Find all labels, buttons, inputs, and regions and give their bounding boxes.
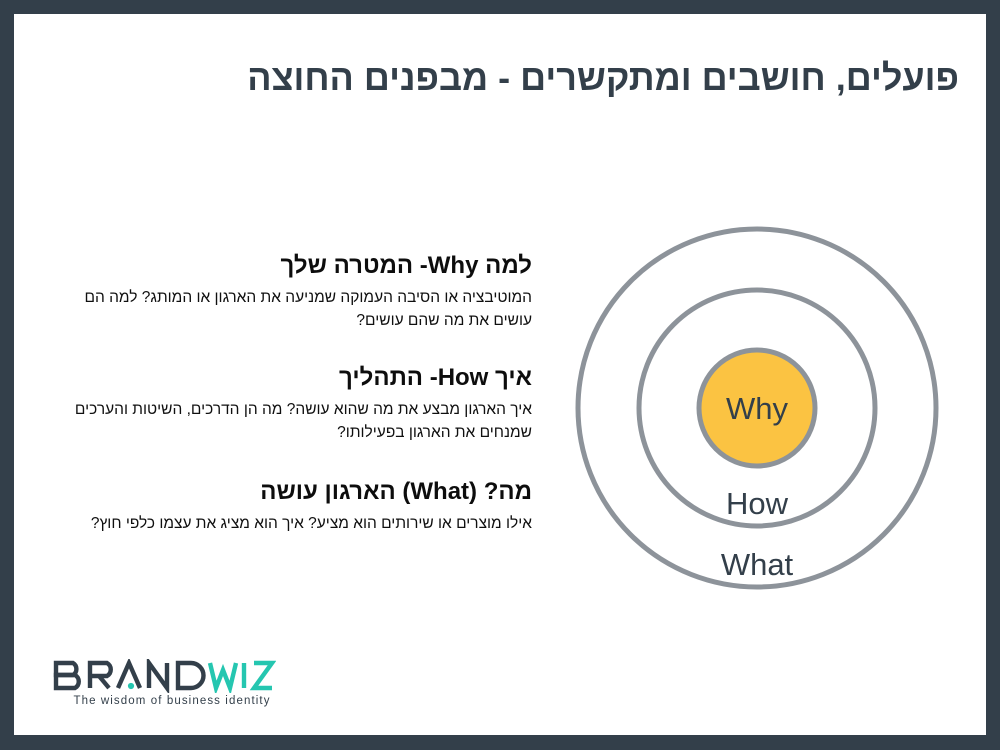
section-what: מה? (What) הארגון עושה אילו מוצרים או שי… [52, 476, 532, 535]
explanation-column: למה Why- המטרה שלך המוטיבציה או הסיבה הע… [52, 250, 532, 535]
section-how-body: איך הארגון מבצע את מה שהוא עושה? מה הן ה… [52, 398, 532, 444]
section-why-heading: למה Why- המטרה שלך [52, 250, 532, 282]
outer-circle-label: What [721, 547, 794, 582]
section-what-heading: מה? (What) הארגון עושה [52, 476, 532, 508]
middle-circle-label: How [726, 486, 789, 521]
brand-logo: The wisdom of business identity [52, 659, 292, 707]
inner-circle-label: Why [726, 391, 789, 426]
slide-canvas: פועלים, חושבים ומתקשרים - מבפנים החוצה ל… [0, 0, 1000, 750]
slide-content-area: פועלים, חושבים ומתקשרים - מבפנים החוצה ל… [14, 14, 986, 735]
section-how: איך How- התהליך איך הארגון מבצע את מה שה… [52, 362, 532, 444]
page-title: פועלים, חושבים ומתקשרים - מבפנים החוצה [59, 56, 959, 100]
logo-tagline: The wisdom of business identity [52, 695, 292, 707]
section-what-body: אילו מוצרים או שירותים הוא מציע? איך הוא… [52, 512, 532, 535]
section-why-body: המוטיבציה או הסיבה העמוקה שמניעה את הארג… [52, 286, 532, 332]
logo-dot-icon [128, 683, 134, 689]
brandwiz-wordmark-icon [52, 659, 276, 693]
section-how-heading: איך How- התהליך [52, 362, 532, 394]
golden-circle-diagram: Why How What [563, 214, 951, 602]
section-why: למה Why- המטרה שלך המוטיבציה או הסיבה הע… [52, 250, 532, 332]
